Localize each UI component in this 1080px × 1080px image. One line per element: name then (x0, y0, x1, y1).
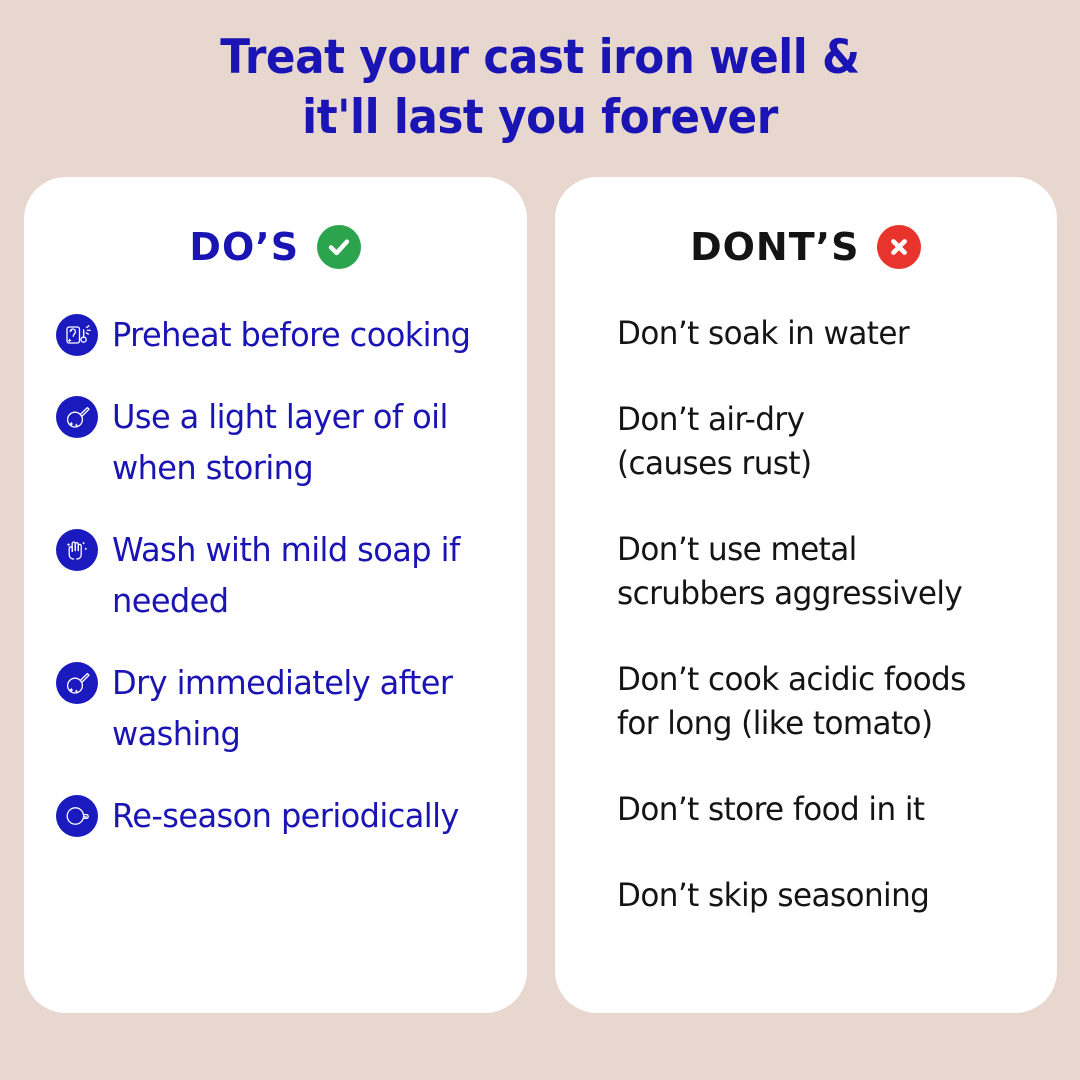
list-item: Re-season periodically (56, 790, 507, 841)
list-item-label: Preheat before cooking (112, 309, 470, 360)
hand-wash-soap-icon (56, 529, 98, 571)
donts-heading: DONT’S (690, 228, 859, 266)
dos-list: Preheat before cooking Use a li (24, 309, 527, 841)
pan-oil-sparkle-icon (56, 396, 98, 438)
preheat-pan-thermometer-icon (56, 314, 98, 356)
list-item: Don’t soak in water (617, 311, 1027, 355)
list-item-label: Wash with mild soap if needed (112, 524, 460, 626)
list-item: Preheat before cooking (56, 309, 507, 360)
donts-card-header: DONT’S (555, 225, 1058, 269)
list-item: Don’t store food in it (617, 787, 1027, 831)
season-pan-icon (56, 795, 98, 837)
dos-card: DO’S (24, 177, 527, 1013)
list-item: Use a light layer of oil when storing (56, 391, 507, 493)
list-item: Don’t skip seasoning (617, 873, 1027, 917)
dos-heading: DO’S (189, 228, 299, 266)
list-item: Don’t air-dry (causes rust) (617, 397, 1027, 485)
check-circle-icon (317, 225, 361, 269)
list-item: Don’t use metal scrubbers aggressively (617, 527, 1027, 615)
list-item: Wash with mild soap if needed (56, 524, 507, 626)
list-item: Dry immediately after washing (56, 657, 507, 759)
donts-list: Don’t soak in water Don’t air-dry (cause… (555, 311, 1058, 917)
donts-card: DONT’S Don’t soak in water Don’t air-dry… (555, 177, 1058, 1013)
list-item: Don’t cook acidic foods for long (like t… (617, 657, 1027, 745)
x-circle-icon (877, 225, 921, 269)
pan-dry-sparkle-icon (56, 662, 98, 704)
list-item-label: Re-season periodically (112, 790, 459, 841)
page-title-line-1: Treat your cast iron well & (38, 28, 1042, 88)
cards-container: DO’S (24, 177, 1057, 1013)
list-item-label: Use a light layer of oil when storing (112, 391, 448, 493)
page-title: Treat your cast iron well & it'll last y… (38, 28, 1042, 148)
list-item-label: Dry immediately after washing (112, 657, 452, 759)
dos-card-header: DO’S (24, 225, 527, 269)
page-title-line-2: it'll last you forever (38, 88, 1042, 148)
